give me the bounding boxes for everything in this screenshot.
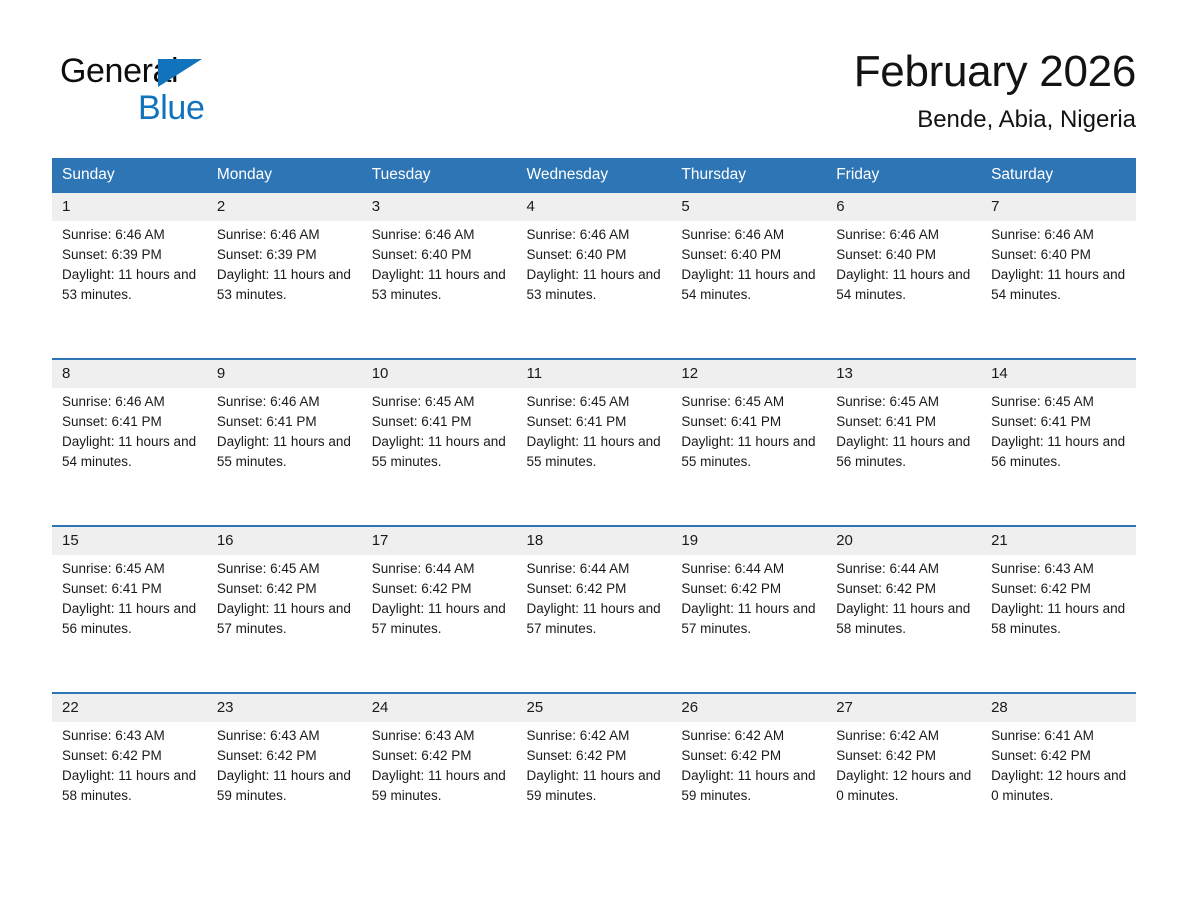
day-details: Sunrise: 6:45 AM Sunset: 6:41 PM Dayligh… — [981, 388, 1136, 472]
sunset-text: Sunset: 6:42 PM — [217, 579, 354, 599]
day-details: Sunrise: 6:42 AM Sunset: 6:42 PM Dayligh… — [517, 722, 672, 806]
day-number: 12 — [671, 360, 826, 388]
weekday-header-wednesday: Wednesday — [517, 158, 672, 193]
day-details: Sunrise: 6:42 AM Sunset: 6:42 PM Dayligh… — [671, 722, 826, 806]
day-details: Sunrise: 6:43 AM Sunset: 6:42 PM Dayligh… — [207, 722, 362, 806]
daylight-text: Daylight: 11 hours and 55 minutes. — [527, 432, 664, 472]
day-cell[interactable]: 20 Sunrise: 6:44 AM Sunset: 6:42 PM Dayl… — [826, 526, 981, 693]
calendar-page: General Blue February 2026 Bende, Abia, … — [0, 0, 1188, 918]
day-details: Sunrise: 6:44 AM Sunset: 6:42 PM Dayligh… — [517, 555, 672, 639]
daylight-text: Daylight: 11 hours and 58 minutes. — [836, 599, 973, 639]
sunrise-text: Sunrise: 6:43 AM — [372, 726, 509, 746]
sunrise-text: Sunrise: 6:45 AM — [991, 392, 1128, 412]
calendar-week-row: 15 Sunrise: 6:45 AM Sunset: 6:41 PM Dayl… — [52, 526, 1136, 693]
calendar-week-row: 8 Sunrise: 6:46 AM Sunset: 6:41 PM Dayli… — [52, 359, 1136, 526]
daylight-text: Daylight: 11 hours and 53 minutes. — [62, 265, 199, 305]
sunrise-text: Sunrise: 6:46 AM — [62, 225, 199, 245]
day-details: Sunrise: 6:45 AM Sunset: 6:41 PM Dayligh… — [517, 388, 672, 472]
sunset-text: Sunset: 6:41 PM — [62, 579, 199, 599]
day-cell[interactable]: 4 Sunrise: 6:46 AM Sunset: 6:40 PM Dayli… — [517, 193, 672, 359]
sunset-text: Sunset: 6:42 PM — [372, 579, 509, 599]
day-number: 26 — [671, 694, 826, 722]
weekday-header-saturday: Saturday — [981, 158, 1136, 193]
sunrise-text: Sunrise: 6:43 AM — [991, 559, 1128, 579]
day-cell[interactable]: 25 Sunrise: 6:42 AM Sunset: 6:42 PM Dayl… — [517, 693, 672, 859]
daylight-text: Daylight: 12 hours and 0 minutes. — [991, 766, 1128, 806]
sunset-text: Sunset: 6:42 PM — [681, 746, 818, 766]
day-details: Sunrise: 6:45 AM Sunset: 6:42 PM Dayligh… — [207, 555, 362, 639]
day-number: 7 — [981, 193, 1136, 221]
sunrise-text: Sunrise: 6:43 AM — [62, 726, 199, 746]
day-cell[interactable]: 17 Sunrise: 6:44 AM Sunset: 6:42 PM Dayl… — [362, 526, 517, 693]
day-cell[interactable]: 22 Sunrise: 6:43 AM Sunset: 6:42 PM Dayl… — [52, 693, 207, 859]
sunrise-text: Sunrise: 6:41 AM — [991, 726, 1128, 746]
sunset-text: Sunset: 6:41 PM — [62, 412, 199, 432]
day-number: 16 — [207, 527, 362, 555]
sunset-text: Sunset: 6:41 PM — [836, 412, 973, 432]
daylight-text: Daylight: 11 hours and 54 minutes. — [991, 265, 1128, 305]
daylight-text: Daylight: 11 hours and 55 minutes. — [372, 432, 509, 472]
daylight-text: Daylight: 11 hours and 59 minutes. — [681, 766, 818, 806]
sunrise-text: Sunrise: 6:46 AM — [62, 392, 199, 412]
day-cell[interactable]: 11 Sunrise: 6:45 AM Sunset: 6:41 PM Dayl… — [517, 359, 672, 526]
day-details: Sunrise: 6:46 AM Sunset: 6:41 PM Dayligh… — [52, 388, 207, 472]
day-cell[interactable]: 14 Sunrise: 6:45 AM Sunset: 6:41 PM Dayl… — [981, 359, 1136, 526]
day-cell[interactable]: 27 Sunrise: 6:42 AM Sunset: 6:42 PM Dayl… — [826, 693, 981, 859]
sunset-text: Sunset: 6:42 PM — [991, 579, 1128, 599]
day-number: 8 — [52, 360, 207, 388]
day-number: 3 — [362, 193, 517, 221]
sunrise-text: Sunrise: 6:43 AM — [217, 726, 354, 746]
calendar-week-row: 22 Sunrise: 6:43 AM Sunset: 6:42 PM Dayl… — [52, 693, 1136, 859]
day-number: 10 — [362, 360, 517, 388]
day-cell[interactable]: 16 Sunrise: 6:45 AM Sunset: 6:42 PM Dayl… — [207, 526, 362, 693]
day-number: 15 — [52, 527, 207, 555]
day-number: 23 — [207, 694, 362, 722]
sunset-text: Sunset: 6:40 PM — [681, 245, 818, 265]
daylight-text: Daylight: 11 hours and 57 minutes. — [372, 599, 509, 639]
calendar-week-row: 1 Sunrise: 6:46 AM Sunset: 6:39 PM Dayli… — [52, 193, 1136, 359]
day-details: Sunrise: 6:46 AM Sunset: 6:41 PM Dayligh… — [207, 388, 362, 472]
weekday-header-tuesday: Tuesday — [362, 158, 517, 193]
day-number: 18 — [517, 527, 672, 555]
day-details: Sunrise: 6:46 AM Sunset: 6:39 PM Dayligh… — [52, 221, 207, 305]
sunset-text: Sunset: 6:41 PM — [991, 412, 1128, 432]
sunset-text: Sunset: 6:42 PM — [527, 579, 664, 599]
sunrise-text: Sunrise: 6:45 AM — [527, 392, 664, 412]
day-details: Sunrise: 6:45 AM Sunset: 6:41 PM Dayligh… — [671, 388, 826, 472]
daylight-text: Daylight: 11 hours and 55 minutes. — [217, 432, 354, 472]
day-cell[interactable]: 10 Sunrise: 6:45 AM Sunset: 6:41 PM Dayl… — [362, 359, 517, 526]
location-subtitle: Bende, Abia, Nigeria — [854, 104, 1136, 136]
day-details: Sunrise: 6:46 AM Sunset: 6:40 PM Dayligh… — [517, 221, 672, 305]
weekday-header-monday: Monday — [207, 158, 362, 193]
day-details: Sunrise: 6:41 AM Sunset: 6:42 PM Dayligh… — [981, 722, 1136, 806]
sunset-text: Sunset: 6:39 PM — [217, 245, 354, 265]
sunrise-text: Sunrise: 6:46 AM — [681, 225, 818, 245]
day-cell[interactable]: 12 Sunrise: 6:45 AM Sunset: 6:41 PM Dayl… — [671, 359, 826, 526]
day-number: 25 — [517, 694, 672, 722]
day-number: 9 — [207, 360, 362, 388]
day-cell[interactable]: 3 Sunrise: 6:46 AM Sunset: 6:40 PM Dayli… — [362, 193, 517, 359]
logo-triangle-icon — [158, 59, 202, 87]
day-number: 21 — [981, 527, 1136, 555]
sunset-text: Sunset: 6:39 PM — [62, 245, 199, 265]
day-details: Sunrise: 6:44 AM Sunset: 6:42 PM Dayligh… — [671, 555, 826, 639]
day-details: Sunrise: 6:44 AM Sunset: 6:42 PM Dayligh… — [362, 555, 517, 639]
day-details: Sunrise: 6:43 AM Sunset: 6:42 PM Dayligh… — [52, 722, 207, 806]
day-number: 28 — [981, 694, 1136, 722]
sunrise-text: Sunrise: 6:45 AM — [836, 392, 973, 412]
sunset-text: Sunset: 6:42 PM — [527, 746, 664, 766]
day-cell[interactable]: 8 Sunrise: 6:46 AM Sunset: 6:41 PM Dayli… — [52, 359, 207, 526]
sunset-text: Sunset: 6:40 PM — [991, 245, 1128, 265]
day-cell[interactable]: 5 Sunrise: 6:46 AM Sunset: 6:40 PM Dayli… — [671, 193, 826, 359]
generalblue-logo[interactable]: General Blue — [60, 52, 320, 138]
daylight-text: Daylight: 11 hours and 56 minutes. — [62, 599, 199, 639]
calendar-body: 1 Sunrise: 6:46 AM Sunset: 6:39 PM Dayli… — [52, 193, 1136, 859]
sunrise-text: Sunrise: 6:44 AM — [681, 559, 818, 579]
daylight-text: Daylight: 11 hours and 56 minutes. — [836, 432, 973, 472]
daylight-text: Daylight: 11 hours and 53 minutes. — [217, 265, 354, 305]
day-cell[interactable]: 28 Sunrise: 6:41 AM Sunset: 6:42 PM Dayl… — [981, 693, 1136, 859]
sunset-text: Sunset: 6:42 PM — [681, 579, 818, 599]
page-header: General Blue February 2026 Bende, Abia, … — [52, 44, 1136, 150]
day-details: Sunrise: 6:46 AM Sunset: 6:40 PM Dayligh… — [826, 221, 981, 305]
logo-text-blue: Blue — [138, 89, 204, 127]
sunset-text: Sunset: 6:40 PM — [836, 245, 973, 265]
sunrise-text: Sunrise: 6:46 AM — [836, 225, 973, 245]
title-block: February 2026 Bende, Abia, Nigeria — [854, 44, 1136, 136]
sunset-text: Sunset: 6:41 PM — [527, 412, 664, 432]
sunrise-text: Sunrise: 6:46 AM — [372, 225, 509, 245]
day-number: 13 — [826, 360, 981, 388]
sunrise-text: Sunrise: 6:45 AM — [62, 559, 199, 579]
sunrise-text: Sunrise: 6:44 AM — [372, 559, 509, 579]
day-cell[interactable]: 19 Sunrise: 6:44 AM Sunset: 6:42 PM Dayl… — [671, 526, 826, 693]
sunset-text: Sunset: 6:40 PM — [527, 245, 664, 265]
day-cell[interactable]: 9 Sunrise: 6:46 AM Sunset: 6:41 PM Dayli… — [207, 359, 362, 526]
daylight-text: Daylight: 11 hours and 57 minutes. — [527, 599, 664, 639]
sunset-text: Sunset: 6:41 PM — [217, 412, 354, 432]
day-number: 17 — [362, 527, 517, 555]
sunset-text: Sunset: 6:42 PM — [836, 746, 973, 766]
day-details: Sunrise: 6:42 AM Sunset: 6:42 PM Dayligh… — [826, 722, 981, 806]
sunrise-text: Sunrise: 6:46 AM — [217, 225, 354, 245]
weekday-header-thursday: Thursday — [671, 158, 826, 193]
day-number: 4 — [517, 193, 672, 221]
day-cell[interactable]: 23 Sunrise: 6:43 AM Sunset: 6:42 PM Dayl… — [207, 693, 362, 859]
day-details: Sunrise: 6:46 AM Sunset: 6:40 PM Dayligh… — [671, 221, 826, 305]
sunset-text: Sunset: 6:42 PM — [836, 579, 973, 599]
day-details: Sunrise: 6:44 AM Sunset: 6:42 PM Dayligh… — [826, 555, 981, 639]
day-details: Sunrise: 6:46 AM Sunset: 6:39 PM Dayligh… — [207, 221, 362, 305]
sunrise-text: Sunrise: 6:46 AM — [217, 392, 354, 412]
daylight-text: Daylight: 11 hours and 55 minutes. — [681, 432, 818, 472]
day-details: Sunrise: 6:43 AM Sunset: 6:42 PM Dayligh… — [981, 555, 1136, 639]
sunset-text: Sunset: 6:42 PM — [372, 746, 509, 766]
daylight-text: Daylight: 12 hours and 0 minutes. — [836, 766, 973, 806]
daylight-text: Daylight: 11 hours and 56 minutes. — [991, 432, 1128, 472]
daylight-text: Daylight: 11 hours and 58 minutes. — [62, 766, 199, 806]
weekday-header-friday: Friday — [826, 158, 981, 193]
day-number: 6 — [826, 193, 981, 221]
daylight-text: Daylight: 11 hours and 54 minutes. — [836, 265, 973, 305]
sunrise-text: Sunrise: 6:45 AM — [372, 392, 509, 412]
day-number: 27 — [826, 694, 981, 722]
day-cell[interactable]: 24 Sunrise: 6:43 AM Sunset: 6:42 PM Dayl… — [362, 693, 517, 859]
day-cell[interactable]: 7 Sunrise: 6:46 AM Sunset: 6:40 PM Dayli… — [981, 193, 1136, 359]
sunset-text: Sunset: 6:40 PM — [372, 245, 509, 265]
weekday-header-sunday: Sunday — [52, 158, 207, 193]
sunrise-text: Sunrise: 6:42 AM — [836, 726, 973, 746]
sunset-text: Sunset: 6:42 PM — [991, 746, 1128, 766]
day-details: Sunrise: 6:46 AM Sunset: 6:40 PM Dayligh… — [362, 221, 517, 305]
daylight-text: Daylight: 11 hours and 53 minutes. — [372, 265, 509, 305]
day-cell[interactable]: 1 Sunrise: 6:46 AM Sunset: 6:39 PM Dayli… — [52, 193, 207, 359]
sunset-text: Sunset: 6:41 PM — [372, 412, 509, 432]
day-number: 19 — [671, 527, 826, 555]
day-number: 11 — [517, 360, 672, 388]
day-number: 14 — [981, 360, 1136, 388]
sunrise-text: Sunrise: 6:44 AM — [527, 559, 664, 579]
sunrise-text: Sunrise: 6:44 AM — [836, 559, 973, 579]
sunset-text: Sunset: 6:42 PM — [217, 746, 354, 766]
daylight-text: Daylight: 11 hours and 57 minutes. — [217, 599, 354, 639]
day-details: Sunrise: 6:45 AM Sunset: 6:41 PM Dayligh… — [362, 388, 517, 472]
day-cell[interactable]: 6 Sunrise: 6:46 AM Sunset: 6:40 PM Dayli… — [826, 193, 981, 359]
sunrise-text: Sunrise: 6:42 AM — [527, 726, 664, 746]
day-number: 1 — [52, 193, 207, 221]
sunrise-text: Sunrise: 6:45 AM — [217, 559, 354, 579]
sunrise-text: Sunrise: 6:46 AM — [527, 225, 664, 245]
sunset-text: Sunset: 6:42 PM — [62, 746, 199, 766]
daylight-text: Daylight: 11 hours and 53 minutes. — [527, 265, 664, 305]
day-number: 22 — [52, 694, 207, 722]
calendar-header-row: Sunday Monday Tuesday Wednesday Thursday… — [52, 158, 1136, 193]
sunrise-text: Sunrise: 6:45 AM — [681, 392, 818, 412]
daylight-text: Daylight: 11 hours and 54 minutes. — [62, 432, 199, 472]
day-cell[interactable]: 26 Sunrise: 6:42 AM Sunset: 6:42 PM Dayl… — [671, 693, 826, 859]
calendar-table: Sunday Monday Tuesday Wednesday Thursday… — [52, 158, 1136, 859]
day-number: 24 — [362, 694, 517, 722]
sunrise-text: Sunrise: 6:42 AM — [681, 726, 818, 746]
daylight-text: Daylight: 11 hours and 58 minutes. — [991, 599, 1128, 639]
day-number: 5 — [671, 193, 826, 221]
calendar-grid: Sunday Monday Tuesday Wednesday Thursday… — [52, 158, 1136, 859]
day-details: Sunrise: 6:45 AM Sunset: 6:41 PM Dayligh… — [52, 555, 207, 639]
sunset-text: Sunset: 6:41 PM — [681, 412, 818, 432]
day-details: Sunrise: 6:46 AM Sunset: 6:40 PM Dayligh… — [981, 221, 1136, 305]
day-details: Sunrise: 6:43 AM Sunset: 6:42 PM Dayligh… — [362, 722, 517, 806]
day-cell[interactable]: 13 Sunrise: 6:45 AM Sunset: 6:41 PM Dayl… — [826, 359, 981, 526]
day-cell[interactable]: 18 Sunrise: 6:44 AM Sunset: 6:42 PM Dayl… — [517, 526, 672, 693]
page-title: February 2026 — [854, 44, 1136, 100]
day-number: 2 — [207, 193, 362, 221]
daylight-text: Daylight: 11 hours and 59 minutes. — [527, 766, 664, 806]
day-cell[interactable]: 2 Sunrise: 6:46 AM Sunset: 6:39 PM Dayli… — [207, 193, 362, 359]
day-number: 20 — [826, 527, 981, 555]
daylight-text: Daylight: 11 hours and 59 minutes. — [372, 766, 509, 806]
day-details: Sunrise: 6:45 AM Sunset: 6:41 PM Dayligh… — [826, 388, 981, 472]
day-cell[interactable]: 21 Sunrise: 6:43 AM Sunset: 6:42 PM Dayl… — [981, 526, 1136, 693]
daylight-text: Daylight: 11 hours and 54 minutes. — [681, 265, 818, 305]
daylight-text: Daylight: 11 hours and 59 minutes. — [217, 766, 354, 806]
day-cell[interactable]: 15 Sunrise: 6:45 AM Sunset: 6:41 PM Dayl… — [52, 526, 207, 693]
daylight-text: Daylight: 11 hours and 57 minutes. — [681, 599, 818, 639]
sunrise-text: Sunrise: 6:46 AM — [991, 225, 1128, 245]
